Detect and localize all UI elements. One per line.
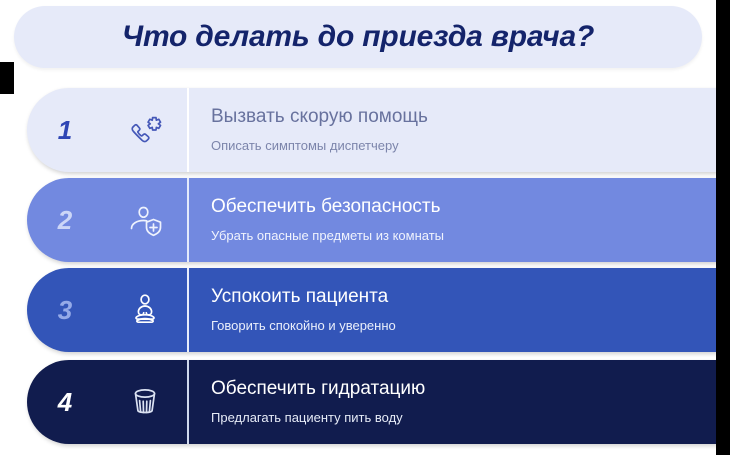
phone-medical-cross-icon xyxy=(103,110,187,150)
step-row-2[interactable]: 2 Обеспечить безопасность Убрать опасные… xyxy=(27,178,718,262)
step-3-subtitle: Говорить спокойно и уверенно xyxy=(211,318,702,334)
step-1-subtitle: Описать симптомы диспетчеру xyxy=(211,138,702,154)
step-1-body: Вызвать скорую помощь Описать симптомы д… xyxy=(189,88,718,172)
step-3-title: Успокоить пациента xyxy=(211,286,702,309)
step-1-title: Вызвать скорую помощь xyxy=(211,106,702,129)
step-2-left-zone: 2 xyxy=(27,178,187,262)
person-shield-plus-icon xyxy=(103,200,187,240)
infographic-canvas: Что делать до приезда врача? 1 Вызвать с… xyxy=(0,0,730,455)
right-edge-strip xyxy=(716,0,730,455)
step-3-number: 3 xyxy=(27,297,103,323)
step-2-body: Обеспечить безопасность Убрать опасные п… xyxy=(189,178,718,262)
drinking-glass-icon xyxy=(103,382,187,422)
step-4-number: 4 xyxy=(27,389,103,415)
step-1-left-zone: 1 xyxy=(27,88,187,172)
step-4-subtitle: Предлагать пациенту пить воду xyxy=(211,410,702,426)
step-3-left-zone: 3 xyxy=(27,268,187,352)
step-2-title: Обеспечить безопасность xyxy=(211,196,702,219)
step-row-3[interactable]: 3 Успокоить пациента Говорить спокойно и… xyxy=(27,268,718,352)
page-title: Что делать до приезда врача? xyxy=(122,20,594,54)
step-4-left-zone: 4 xyxy=(27,360,187,444)
step-row-4[interactable]: 4 Обеспечить гидратацию Предлагать пацие… xyxy=(27,360,718,444)
page-title-banner: Что делать до приезда врача? xyxy=(14,6,702,68)
step-1-number: 1 xyxy=(27,117,103,143)
step-2-number: 2 xyxy=(27,207,103,233)
step-4-title: Обеспечить гидратацию xyxy=(211,378,702,401)
step-4-body: Обеспечить гидратацию Предлагать пациент… xyxy=(189,360,718,444)
meditating-person-icon xyxy=(103,290,187,330)
step-3-body: Успокоить пациента Говорить спокойно и у… xyxy=(189,268,718,352)
step-row-1[interactable]: 1 Вызвать скорую помощь Описать симптомы… xyxy=(27,88,718,172)
step-2-subtitle: Убрать опасные предметы из комнаты xyxy=(211,228,702,244)
steps-list: 1 Вызвать скорую помощь Описать симптомы… xyxy=(0,88,730,455)
